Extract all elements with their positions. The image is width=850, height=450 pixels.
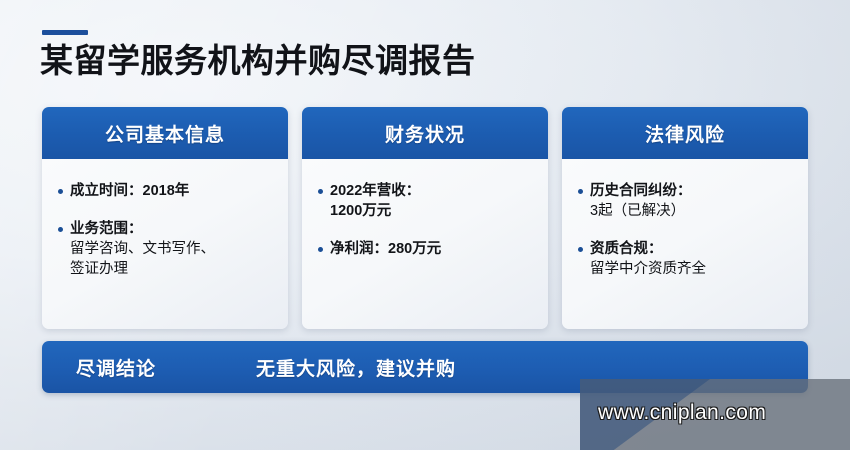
- card-title: 财务状况: [385, 120, 465, 147]
- bullet-dot-icon: [318, 247, 323, 252]
- card-financial-status: 财务状况 2022年营收： 1200万元 净利润：280万元: [302, 107, 548, 329]
- bullet-text: 净利润：280万元: [330, 239, 441, 259]
- bullet-text: 历史合同纠纷： 3起（已解决）: [590, 181, 692, 221]
- bullet-line-primary: 成立时间：2018年: [70, 181, 189, 201]
- bullet-line-primary: 历史合同纠纷：: [590, 181, 692, 201]
- card-title: 公司基本信息: [105, 120, 225, 147]
- bullet-line-tertiary: 签证办理: [70, 259, 215, 279]
- bullet-line-primary: 业务范围：: [70, 219, 215, 239]
- list-item: 成立时间：2018年: [58, 181, 274, 201]
- card-body: 历史合同纠纷： 3起（已解决） 资质合规： 留学中介资质齐全: [562, 159, 808, 329]
- watermark-text: www.cniplan.com: [598, 401, 766, 425]
- bullet-dot-icon: [318, 189, 323, 194]
- bullet-line-secondary: 留学中介资质齐全: [590, 259, 706, 279]
- list-item: 历史合同纠纷： 3起（已解决）: [578, 181, 794, 221]
- card-header: 财务状况: [302, 107, 548, 159]
- card-header: 法律风险: [562, 107, 808, 159]
- card-company-basic-info: 公司基本信息 成立时间：2018年 业务范围： 留学咨询、文书写作、 签证办理: [42, 107, 288, 329]
- watermark-overlay: www.cniplan.com: [580, 379, 850, 450]
- slide-canvas: 某留学服务机构并购尽调报告 公司基本信息 成立时间：2018年 业务范围：: [0, 0, 850, 450]
- list-item: 2022年营收： 1200万元: [318, 181, 534, 221]
- bullet-line-primary: 2022年营收：: [330, 181, 420, 201]
- bullet-dot-icon: [578, 189, 583, 194]
- info-cards-row: 公司基本信息 成立时间：2018年 业务范围： 留学咨询、文书写作、 签证办理: [42, 107, 808, 329]
- card-body: 成立时间：2018年 业务范围： 留学咨询、文书写作、 签证办理: [42, 159, 288, 329]
- bullet-line-secondary: 1200万元: [330, 201, 420, 221]
- bullet-line-primary: 资质合规：: [590, 239, 706, 259]
- bullet-line-secondary: 3起（已解决）: [590, 201, 692, 221]
- bullet-dot-icon: [58, 189, 63, 194]
- list-item: 业务范围： 留学咨询、文书写作、 签证办理: [58, 219, 274, 279]
- bullet-line-secondary: 留学咨询、文书写作、: [70, 239, 215, 259]
- bullet-dot-icon: [578, 247, 583, 252]
- bullet-text: 资质合规： 留学中介资质齐全: [590, 239, 706, 279]
- card-title: 法律风险: [645, 120, 725, 147]
- bullet-text: 业务范围： 留学咨询、文书写作、 签证办理: [70, 219, 215, 279]
- title-accent-bar: [42, 30, 88, 35]
- bullet-dot-icon: [58, 227, 63, 232]
- page-title: 某留学服务机构并购尽调报告: [40, 40, 800, 82]
- bullet-line-primary: 净利润：280万元: [330, 239, 441, 259]
- card-body: 2022年营收： 1200万元 净利润：280万元: [302, 159, 548, 329]
- card-header: 公司基本信息: [42, 107, 288, 159]
- conclusion-value: 无重大风险，建议并购: [256, 354, 456, 381]
- conclusion-label: 尽调结论: [76, 354, 156, 381]
- list-item: 净利润：280万元: [318, 239, 534, 259]
- list-item: 资质合规： 留学中介资质齐全: [578, 239, 794, 279]
- bullet-text: 成立时间：2018年: [70, 181, 189, 201]
- card-legal-risk: 法律风险 历史合同纠纷： 3起（已解决） 资质合规： 留学中介资质齐全: [562, 107, 808, 329]
- bullet-text: 2022年营收： 1200万元: [330, 181, 420, 221]
